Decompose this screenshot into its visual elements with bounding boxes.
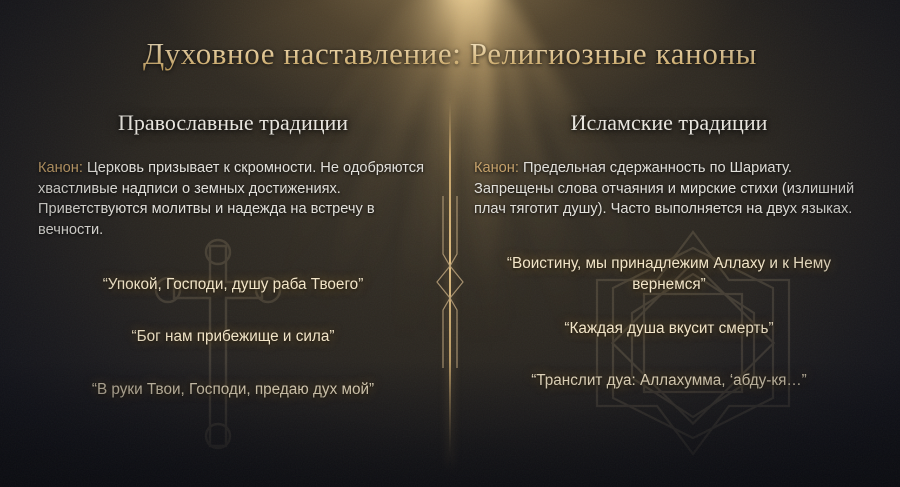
canon-text-islamic: Предельная сдержанность по Шариату. Запр… <box>474 160 854 217</box>
quote-item: “Бог нам прибежище и сила” <box>38 327 428 347</box>
column-orthodox: Православные традиции Канон: Церковь при… <box>38 110 428 400</box>
vertical-gold-divider <box>449 98 451 466</box>
canon-label-orthodox: Канон: <box>38 160 83 176</box>
quote-item: “Каждая душа вкусит смерть” <box>474 319 864 339</box>
quote-item: “Упокой, Господи, душу раба Твоего” <box>38 275 428 295</box>
quote-list-orthodox: “Упокой, Господи, душу раба Твоего” “Бог… <box>38 275 428 400</box>
canon-paragraph-orthodox: Канон: Церковь призывает к скромности. Н… <box>38 158 428 241</box>
quote-item: “Воистину, мы принадлежим Аллаху и к Нем… <box>474 254 864 295</box>
column-islamic: Исламские традиции Канон: Предельная сде… <box>474 110 864 392</box>
column-header-islamic: Исламские традиции <box>474 110 864 136</box>
canon-label-islamic: Канон: <box>474 160 519 176</box>
canon-text-orthodox: Церковь призывает к скромности. Не одобр… <box>38 160 424 238</box>
quote-item: “Транслит дуа: Аллахумма, ‘абду-кя…” <box>474 371 864 391</box>
quote-list-islamic: “Воистину, мы принадлежим Аллаху и к Нем… <box>474 254 864 391</box>
quote-item: “В руки Твои, Господи, предаю дух мой” <box>38 380 428 400</box>
page-title: Духовное наставление: Религиозные каноны <box>0 36 900 72</box>
slide-canvas: Духовное наставление: Религиозные каноны… <box>0 0 900 487</box>
column-header-orthodox: Православные традиции <box>38 110 428 136</box>
canon-paragraph-islamic: Канон: Предельная сдержанность по Шариат… <box>474 158 864 220</box>
